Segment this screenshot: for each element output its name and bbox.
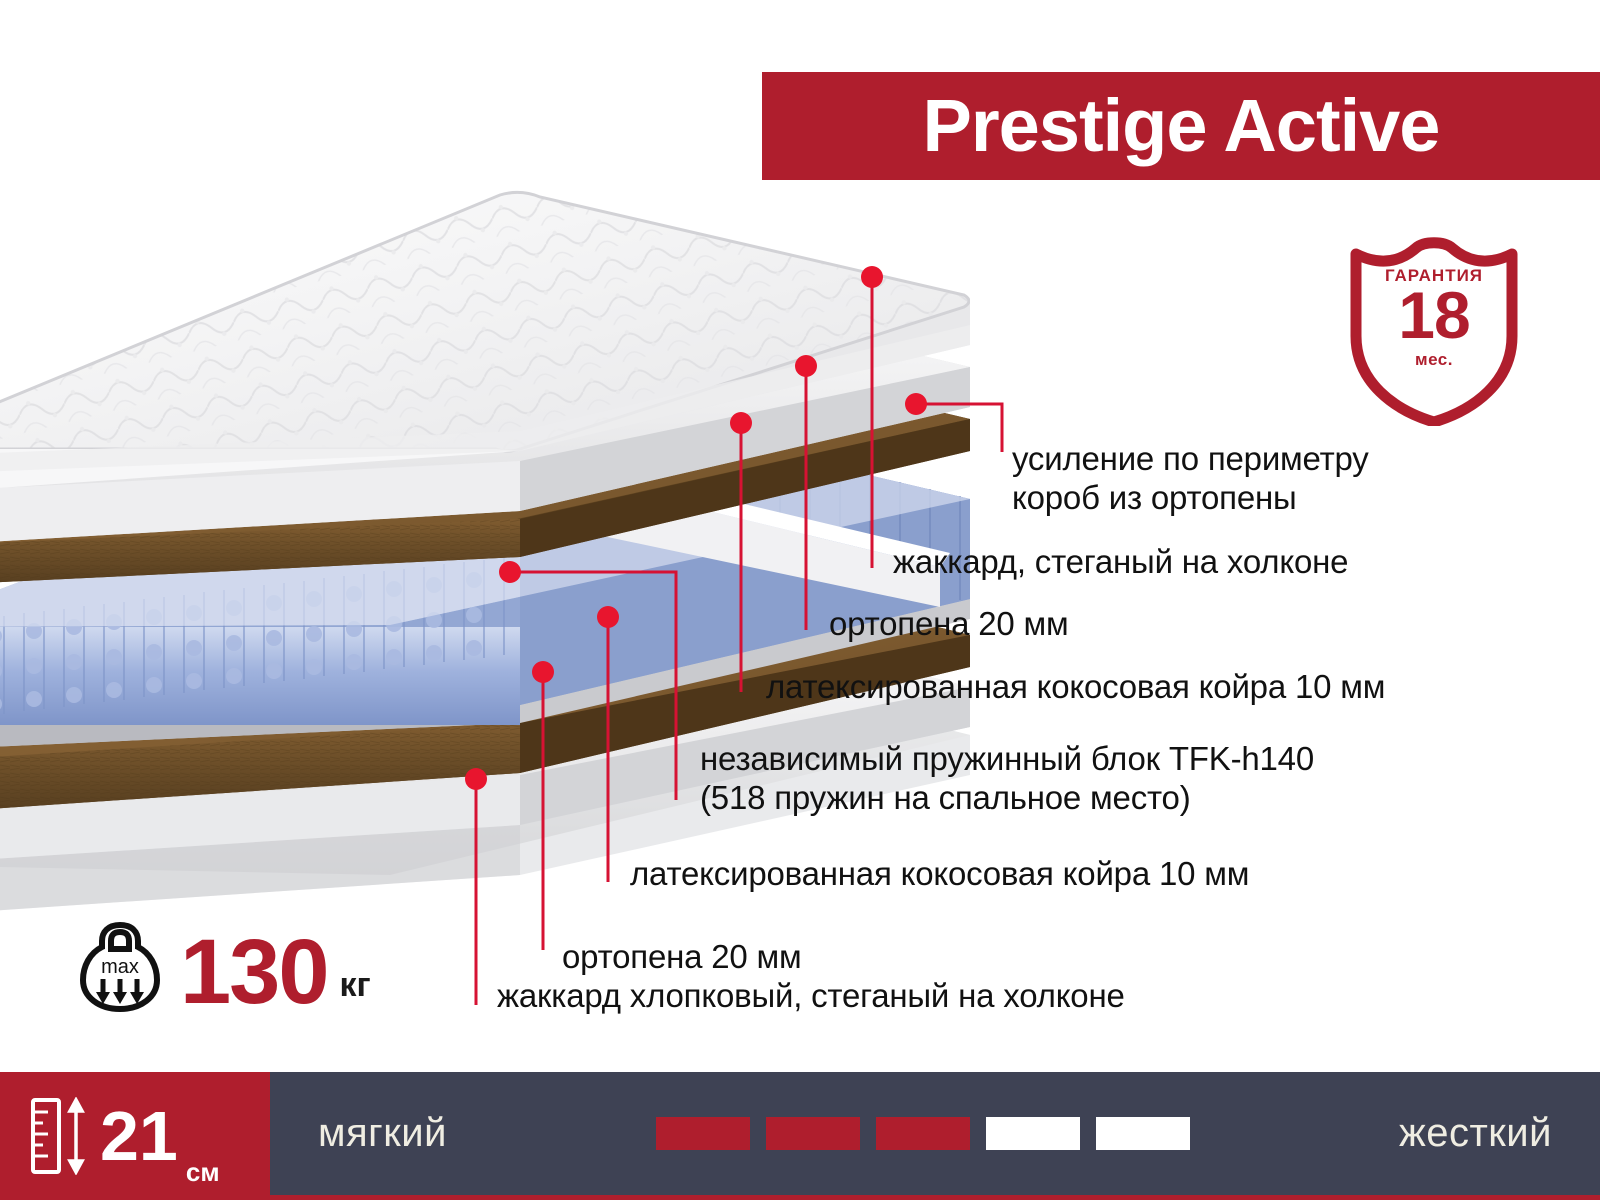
max-load-indicator: max 130 кг bbox=[78, 915, 371, 1015]
firmness-segment-1 bbox=[656, 1117, 750, 1150]
layer-label-ortopena-top: ортопена 20 мм bbox=[829, 605, 1069, 644]
firmness-segment-2 bbox=[766, 1117, 860, 1150]
layer-label-coir-top: латексированная кокосовая койра 10 мм bbox=[766, 668, 1385, 707]
product-infographic: Prestige Active ГАРАНТИЯ 18 мес. усилени… bbox=[0, 0, 1600, 1200]
product-title: Prestige Active bbox=[923, 89, 1440, 163]
height-indicator: 21 см bbox=[0, 1072, 270, 1200]
firmness-segment-4 bbox=[986, 1117, 1080, 1150]
layer-label-jacquard-top: жаккард, стеганый на холконе bbox=[893, 543, 1348, 582]
layer-label-jacquard-bottom: жаккард хлопковый, стеганый на холконе bbox=[497, 977, 1125, 1016]
firmness-segment-5 bbox=[1096, 1117, 1190, 1150]
firmness-soft-label: мягкий bbox=[318, 1111, 447, 1156]
mattress-cutaway-illustration bbox=[0, 175, 970, 935]
ruler-icon bbox=[30, 1097, 90, 1175]
max-load-unit: кг bbox=[340, 966, 371, 1005]
kettlebell-icon: max bbox=[78, 915, 162, 1015]
product-title-banner: Prestige Active bbox=[762, 72, 1600, 180]
firmness-segment-3 bbox=[876, 1117, 970, 1150]
max-load-value: 130 bbox=[180, 930, 328, 1015]
height-value: 21 bbox=[100, 1101, 178, 1171]
height-unit: см bbox=[186, 1157, 220, 1188]
warranty-unit: мес. bbox=[1346, 350, 1522, 370]
firmness-scale: мягкий жесткий bbox=[270, 1072, 1600, 1200]
warranty-badge: ГАРАНТИЯ 18 мес. bbox=[1346, 232, 1522, 426]
bottom-spec-bar: 21 см мягкий жесткий bbox=[0, 1072, 1600, 1200]
warranty-value: 18 bbox=[1346, 282, 1522, 348]
layer-label-coir-bottom: латексированная кокосовая койра 10 мм bbox=[630, 855, 1249, 894]
bottom-red-rule bbox=[0, 1195, 1600, 1200]
layer-label-ortopena-bottom: ортопена 20 мм bbox=[562, 938, 802, 977]
svg-text:max: max bbox=[101, 956, 139, 978]
firmness-segments bbox=[656, 1117, 1190, 1150]
firmness-hard-label: жесткий bbox=[1399, 1111, 1552, 1156]
layer-label-spring-block: независимый пружинный блок TFK-h140 (518… bbox=[700, 740, 1314, 817]
layer-label-perimeter: усиление по периметру короб из ортопены bbox=[1012, 440, 1369, 517]
